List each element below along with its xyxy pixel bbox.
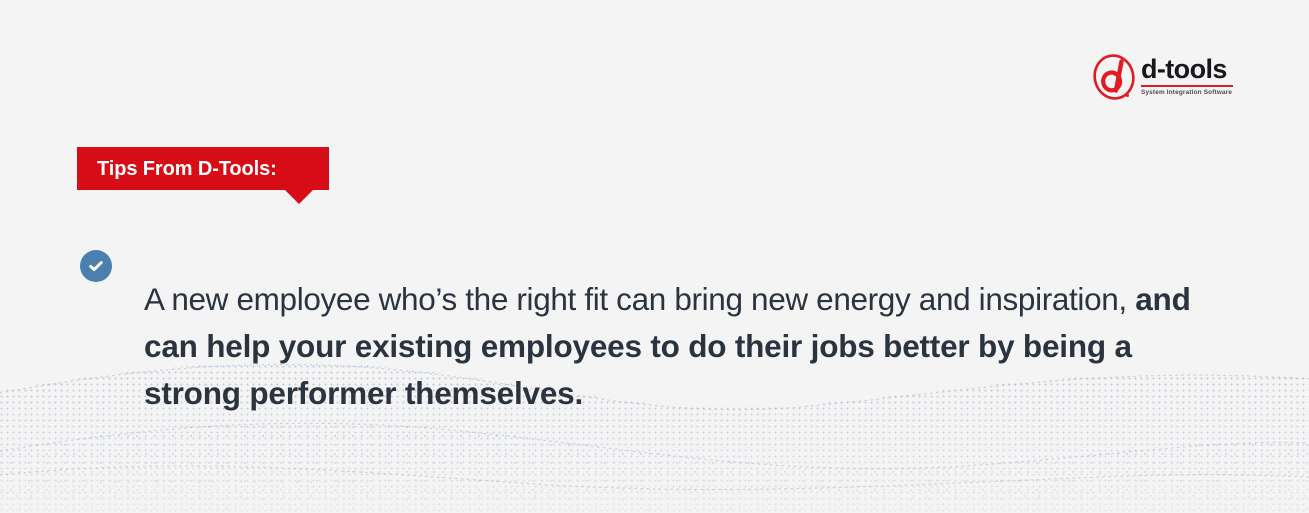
logo-tagline: System Integration Software — [1141, 90, 1233, 96]
tips-badge-tail — [285, 190, 313, 204]
tips-badge-label: Tips From D-Tools: — [97, 159, 277, 179]
tip-text: A new employee who’s the right fit can b… — [144, 276, 1204, 417]
d-tools-circle-d-icon — [1093, 52, 1139, 104]
tip-row: A new employee who’s the right fit can b… — [80, 244, 1230, 448]
slide-canvas: d-tools System Integration Software Tips… — [0, 0, 1309, 513]
logo-underline-rule — [1141, 85, 1233, 87]
tips-badge-body: Tips From D-Tools: — [77, 147, 329, 190]
tip-text-regular: A new employee who’s the right fit can b… — [144, 281, 1135, 317]
logo-wordmark: d-tools — [1141, 56, 1233, 83]
logo-wordmark-group: d-tools System Integration Software — [1141, 56, 1233, 96]
brand-logo: d-tools System Integration Software — [1093, 52, 1233, 107]
tips-badge: Tips From D-Tools: — [77, 147, 329, 203]
check-circle-icon — [80, 250, 112, 282]
